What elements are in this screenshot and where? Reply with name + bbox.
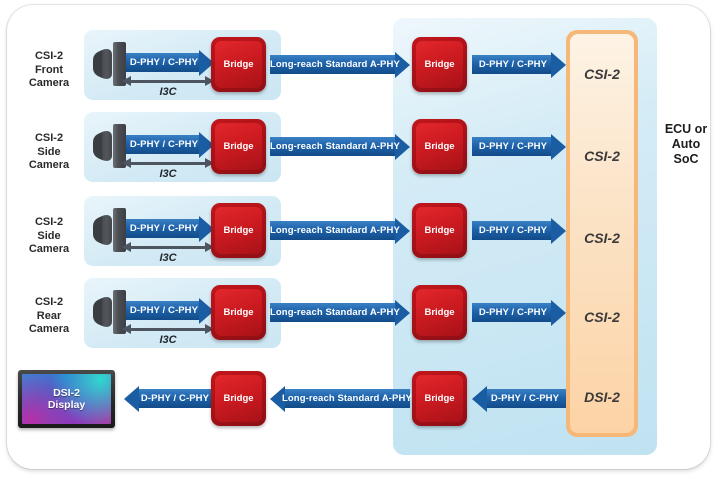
link-label: D-PHY / C-PHY — [124, 389, 214, 408]
source-label-row-4-line-2: Rear — [14, 310, 84, 324]
diagram-canvas: CSI-2 CSI-2 CSI-2 CSI-2 DSI-2 ECU or Aut… — [0, 0, 720, 479]
bridge-far-display: Bridge — [412, 371, 467, 426]
link-aphy-row-4: Long-reach Standard A-PHY — [270, 303, 410, 322]
bridge-label: Bridge — [223, 307, 253, 318]
link-dphy-cphy-row-4: D-PHY / C-PHY — [126, 301, 214, 320]
bridge-far-row-3: Bridge — [412, 203, 467, 258]
link-aphy-row-1: Long-reach Standard A-PHY — [270, 55, 410, 74]
camera-lens-front-icon — [93, 51, 102, 77]
link-label: Long-reach Standard A-PHY — [270, 137, 412, 156]
sideband-i3c-label-row-1: I3C — [122, 86, 214, 98]
bridge-near-row-2: Bridge — [211, 119, 266, 174]
link-dphy-cphy-display: D-PHY / C-PHY — [124, 389, 214, 408]
bridge-label: Bridge — [424, 59, 454, 70]
source-label-row-4-line-1: CSI-2 — [14, 296, 84, 310]
link-label: D-PHY / C-PHY — [126, 53, 214, 72]
ecu-soc-label: ECU or Auto SoC — [655, 122, 717, 167]
interface-column-inner: CSI-2 CSI-2 CSI-2 CSI-2 DSI-2 — [570, 34, 634, 433]
link-dphy-cphy-out-row-3: D-PHY / C-PHY — [472, 221, 566, 240]
sideband-i3c-label-row-4: I3C — [122, 334, 214, 346]
link-label: Long-reach Standard A-PHY — [270, 389, 412, 408]
link-dphy-cphy-out-display: D-PHY / C-PHY — [472, 389, 566, 408]
interface-label-csi2-1: CSI-2 — [570, 66, 634, 82]
source-label-row-3-line-1: CSI-2 — [14, 216, 84, 230]
link-aphy-row-2: Long-reach Standard A-PHY — [270, 137, 410, 156]
display-screen-label-line-1: DSI-2 — [48, 387, 85, 400]
interface-label-csi2-2: CSI-2 — [570, 148, 634, 164]
link-label: D-PHY / C-PHY — [126, 219, 214, 238]
bridge-label: Bridge — [223, 393, 253, 404]
source-label-row-1: CSI-2 Front Camera — [14, 50, 84, 91]
camera-lens-front-icon — [93, 133, 102, 159]
interface-label-csi2-4: CSI-2 — [570, 309, 634, 325]
source-label-row-1-line-2: Front — [14, 64, 84, 78]
link-dphy-cphy-row-3: D-PHY / C-PHY — [126, 219, 214, 238]
sideband-i3c-label-row-2: I3C — [122, 168, 214, 180]
source-label-row-4-line-3: Camera — [14, 323, 84, 337]
bridge-far-row-2: Bridge — [412, 119, 467, 174]
link-dphy-cphy-row-2: D-PHY / C-PHY — [126, 135, 214, 154]
ecu-soc-label-line-3: SoC — [655, 152, 717, 167]
source-label-row-4: CSI-2 Rear Camera — [14, 296, 84, 337]
display-icon: DSI-2 Display — [18, 370, 115, 428]
interface-column: CSI-2 CSI-2 CSI-2 CSI-2 DSI-2 — [566, 30, 638, 437]
link-label: D-PHY / C-PHY — [472, 303, 566, 322]
arrow-shaft — [130, 246, 206, 249]
display-screen: DSI-2 Display — [22, 374, 111, 424]
ecu-soc-label-line-2: Auto — [655, 137, 717, 152]
bridge-far-row-1: Bridge — [412, 37, 467, 92]
bridge-near-row-4: Bridge — [211, 285, 266, 340]
link-label: D-PHY / C-PHY — [126, 135, 214, 154]
link-label: D-PHY / C-PHY — [472, 389, 566, 408]
link-aphy-row-3: Long-reach Standard A-PHY — [270, 221, 410, 240]
link-label: Long-reach Standard A-PHY — [270, 221, 412, 240]
source-label-row-3-line-3: Camera — [14, 243, 84, 257]
link-dphy-cphy-out-row-1: D-PHY / C-PHY — [472, 55, 566, 74]
link-label: D-PHY / C-PHY — [472, 55, 566, 74]
source-label-row-1-line-1: CSI-2 — [14, 50, 84, 64]
source-label-row-2: CSI-2 Side Camera — [14, 132, 84, 173]
interface-label-dsi2: DSI-2 — [570, 389, 634, 405]
link-label: Long-reach Standard A-PHY — [270, 303, 412, 322]
bridge-label: Bridge — [424, 307, 454, 318]
link-aphy-display: Long-reach Standard A-PHY — [270, 389, 410, 408]
bridge-label: Bridge — [223, 141, 253, 152]
bridge-near-row-1: Bridge — [211, 37, 266, 92]
interface-label-csi2-3: CSI-2 — [570, 230, 634, 246]
source-label-row-3: CSI-2 Side Camera — [14, 216, 84, 257]
link-label: Long-reach Standard A-PHY — [270, 55, 412, 74]
bridge-near-row-3: Bridge — [211, 203, 266, 258]
bridge-label: Bridge — [424, 393, 454, 404]
bridge-label: Bridge — [424, 141, 454, 152]
display-screen-label-line-2: Display — [48, 399, 85, 412]
source-label-row-1-line-3: Camera — [14, 77, 84, 91]
bridge-label: Bridge — [223, 59, 253, 70]
camera-lens-front-icon — [93, 299, 102, 325]
source-label-row-2-line-3: Camera — [14, 159, 84, 173]
display-screen-label: DSI-2 Display — [48, 387, 85, 412]
arrow-shaft — [130, 328, 206, 331]
source-label-row-2-line-2: Side — [14, 146, 84, 160]
source-label-row-2-line-1: CSI-2 — [14, 132, 84, 146]
bridge-near-display: Bridge — [211, 371, 266, 426]
link-dphy-cphy-out-row-4: D-PHY / C-PHY — [472, 303, 566, 322]
link-label: D-PHY / C-PHY — [472, 137, 566, 156]
link-dphy-cphy-out-row-2: D-PHY / C-PHY — [472, 137, 566, 156]
link-label: D-PHY / C-PHY — [472, 221, 566, 240]
camera-lens-front-icon — [93, 217, 102, 243]
bridge-label: Bridge — [223, 225, 253, 236]
source-label-row-3-line-2: Side — [14, 230, 84, 244]
bridge-label: Bridge — [424, 225, 454, 236]
sideband-i3c-label-row-3: I3C — [122, 252, 214, 264]
link-dphy-cphy-row-1: D-PHY / C-PHY — [126, 53, 214, 72]
arrow-shaft — [130, 162, 206, 165]
ecu-soc-label-line-1: ECU or — [655, 122, 717, 137]
arrow-shaft — [130, 80, 206, 83]
bridge-far-row-4: Bridge — [412, 285, 467, 340]
link-label: D-PHY / C-PHY — [126, 301, 214, 320]
